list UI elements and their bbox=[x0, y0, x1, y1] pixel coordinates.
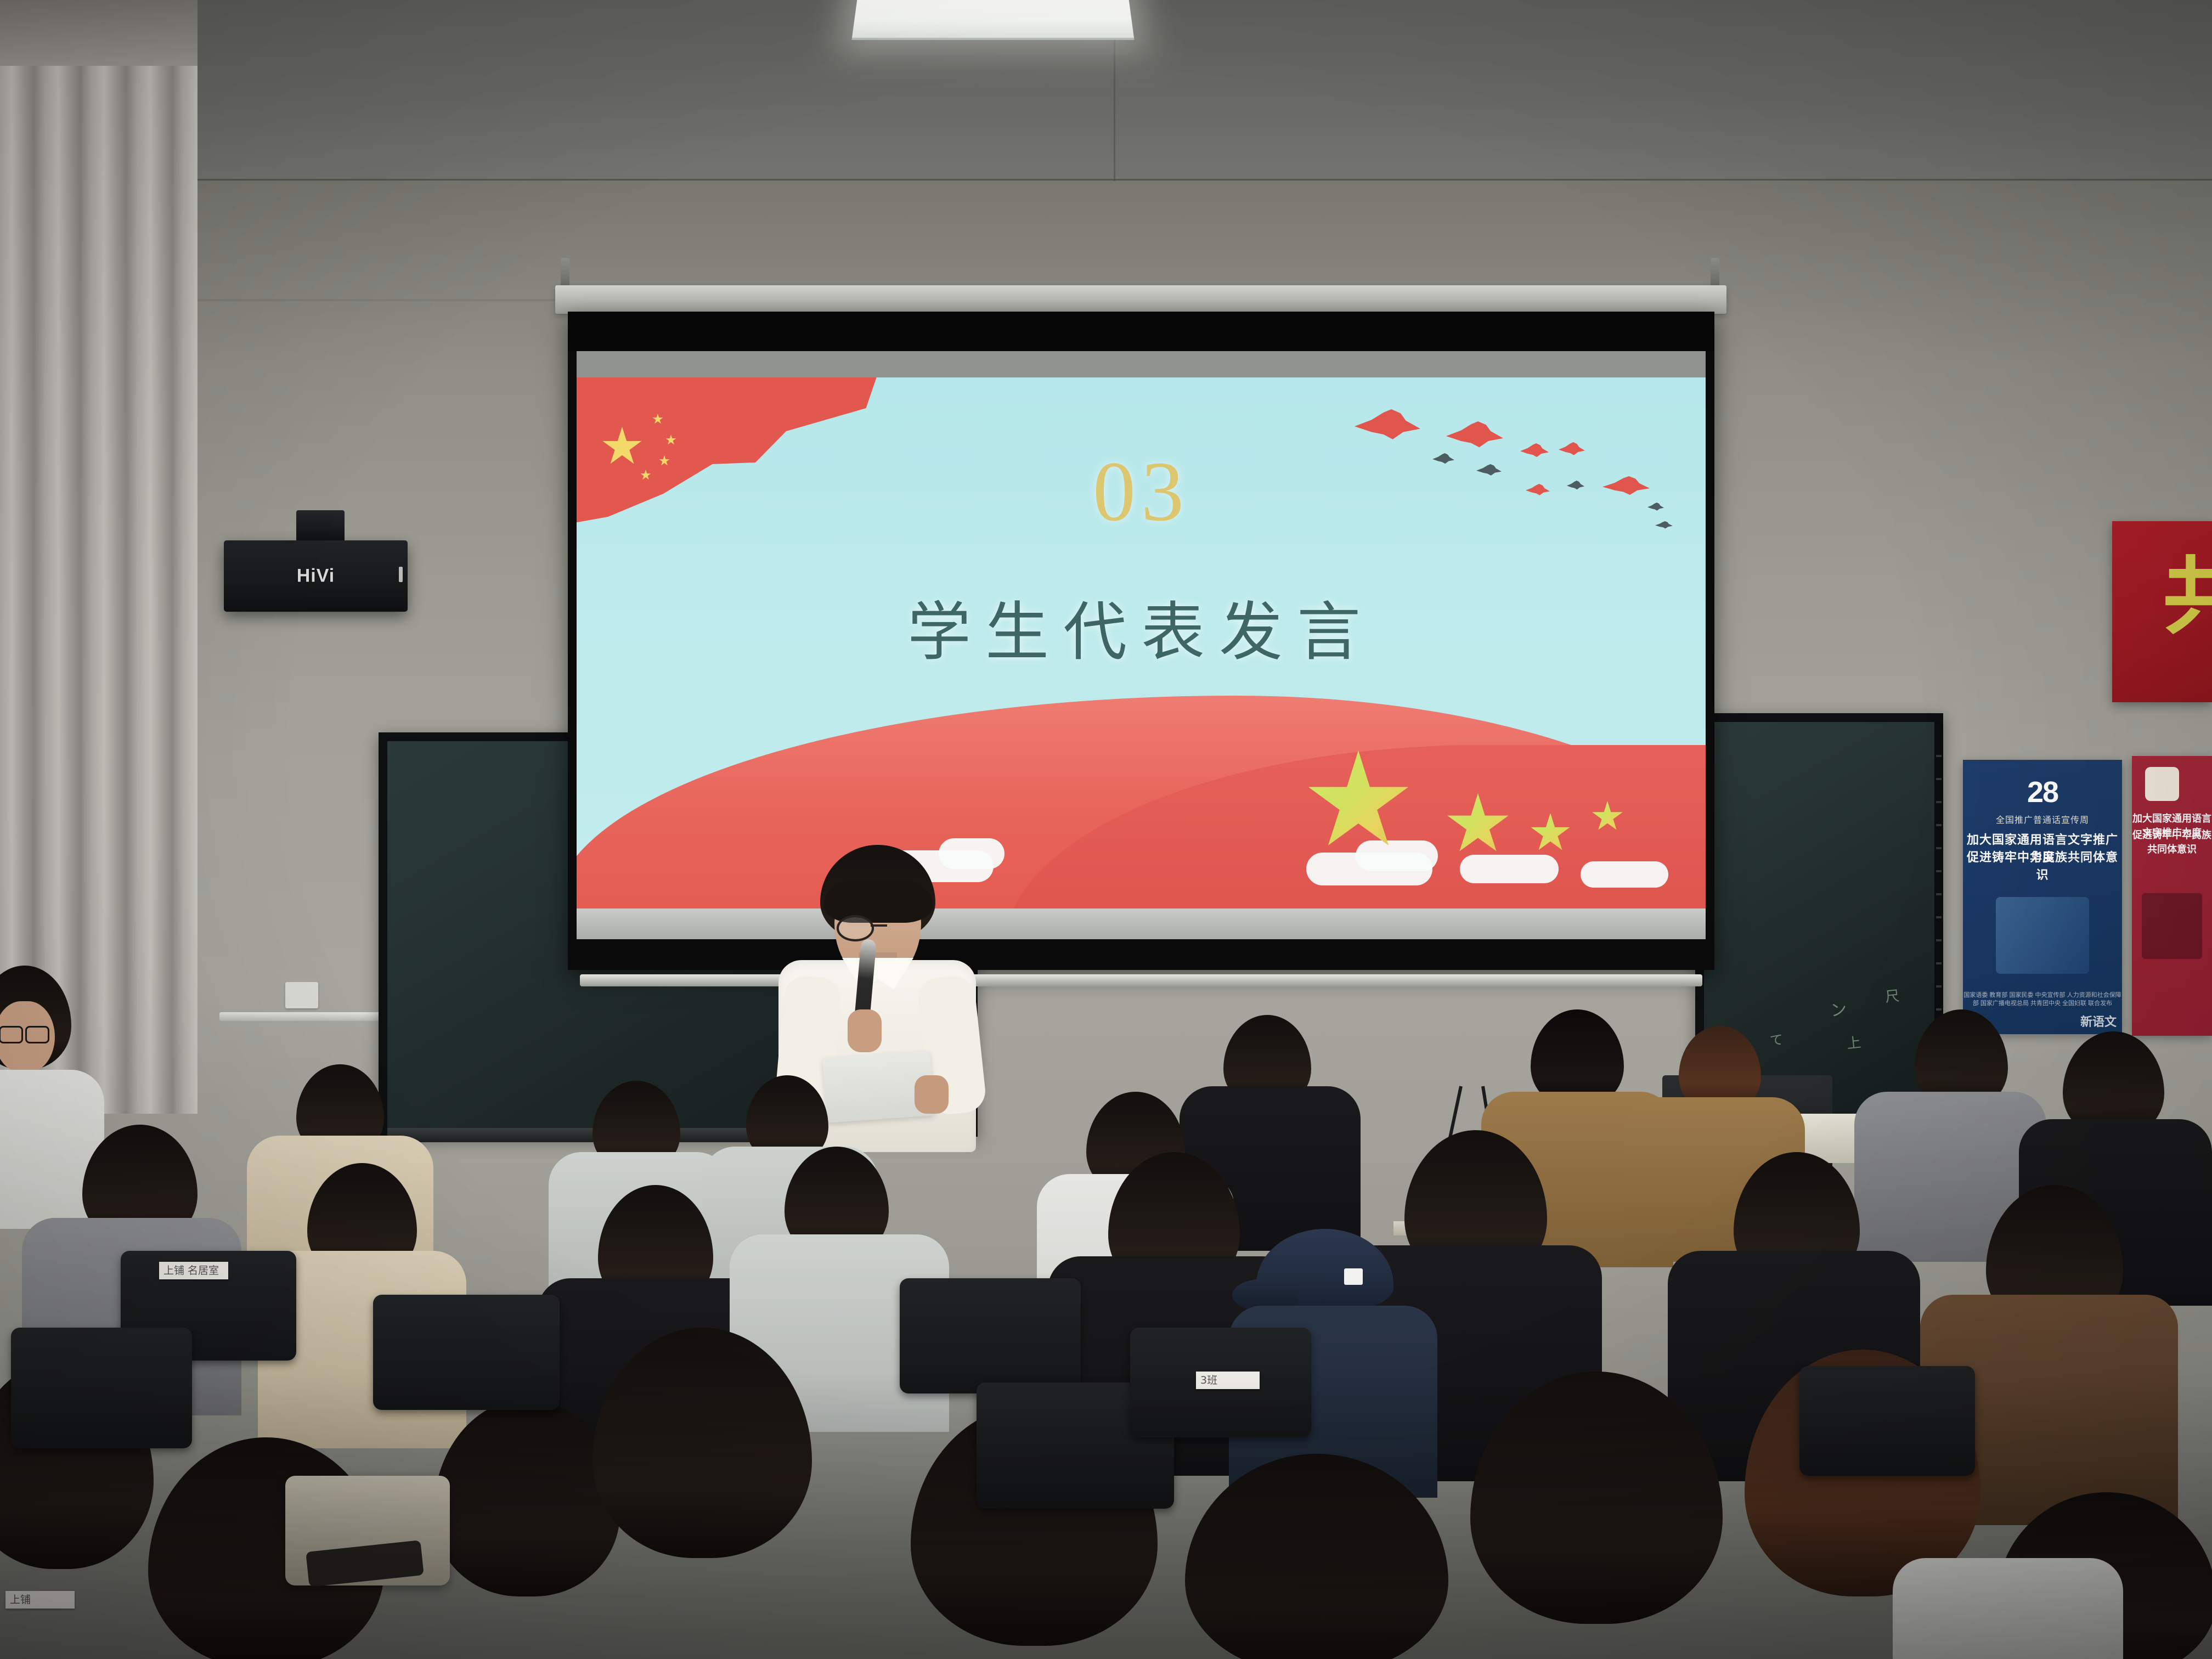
blackboard-right-side-dots bbox=[1936, 755, 1942, 1018]
wall-rail bbox=[219, 1012, 384, 1021]
screen-roller-housing bbox=[555, 285, 1726, 314]
poster-illustration bbox=[1996, 897, 2089, 974]
speaker-led-indicator bbox=[399, 567, 403, 582]
screen-black-header bbox=[568, 312, 1714, 351]
poster-subtitle: 全国推广普通话宣传周 bbox=[1963, 812, 2122, 826]
poster-seal-icon bbox=[2145, 767, 2179, 801]
chalk-mark-1: ン bbox=[1829, 996, 1848, 1022]
curtain-rail bbox=[0, 0, 198, 66]
screen-surface: 03 学生代表发言 bbox=[577, 351, 1706, 939]
window-curtain bbox=[0, 0, 198, 1114]
seat bbox=[11, 1328, 192, 1448]
red-wall-banner: 共 bbox=[2112, 521, 2212, 702]
chalk-mark-4: 尺 bbox=[1884, 985, 1900, 1007]
seat bbox=[373, 1295, 560, 1410]
speaker-brand-label: HiVi bbox=[297, 566, 335, 587]
seat bbox=[1799, 1366, 1975, 1476]
presentation-slide: 03 学生代表发言 bbox=[577, 377, 1706, 915]
putonghua-week-poster: 28 全国推广普通话宣传周 加大国家通用语言文字推广力度 促进铸牢中华民族共同体… bbox=[1963, 760, 2122, 1034]
seat-label: 上铺 名居室 bbox=[159, 1262, 228, 1279]
banner-character: 共 bbox=[2163, 554, 2212, 658]
classroom-presentation-photo: HiVi ン て 上 尺 bbox=[0, 0, 2212, 1659]
seat bbox=[900, 1278, 1081, 1393]
cloud-shape-6 bbox=[1581, 861, 1668, 888]
screen-bottom-band bbox=[577, 909, 1706, 939]
slide-title: 学生代表发言 bbox=[577, 580, 1706, 673]
cloud-shape-4 bbox=[1356, 840, 1438, 871]
poster-footer-credits: 国家语委 教育部 国家民委 中央宣传部 人力资源和社会保障部 国家广播电视总局 … bbox=[1963, 991, 2122, 1008]
language-promotion-poster: 加大国家通用语言文字推广力度 促进铸牢中华民族共同体意识 bbox=[2132, 756, 2212, 1036]
wall-speaker: HiVi bbox=[224, 540, 408, 612]
seat-label: 上铺 bbox=[5, 1591, 75, 1609]
glasses-icon bbox=[837, 915, 920, 937]
poster-number: 28 bbox=[1963, 775, 2122, 809]
audience-body bbox=[1893, 1558, 2123, 1659]
poster-slogan-line-2: 促进铸牢中华民族共同体意识 bbox=[1963, 848, 2122, 883]
wall-outlet-plate bbox=[285, 982, 318, 1008]
glasses-icon bbox=[0, 1026, 49, 1040]
cloud-shape-5 bbox=[1460, 855, 1559, 883]
red-poster-line-2: 促进铸牢中华民族共同体意识 bbox=[2132, 827, 2212, 856]
red-poster-illustration bbox=[2142, 893, 2202, 959]
screen-weight-bar bbox=[580, 974, 1702, 986]
screen-top-band bbox=[577, 351, 1706, 377]
projection-screen: 03 学生代表发言 bbox=[568, 312, 1714, 970]
seat-label: 3班 bbox=[1196, 1372, 1260, 1389]
ceiling-seam bbox=[0, 179, 2212, 180]
cap-logo-icon bbox=[1344, 1268, 1363, 1285]
slide-section-number: 03 bbox=[577, 442, 1706, 541]
camera-icon bbox=[296, 510, 345, 542]
glasses-bridge bbox=[871, 924, 887, 927]
ceiling-light-panel bbox=[851, 0, 1134, 40]
